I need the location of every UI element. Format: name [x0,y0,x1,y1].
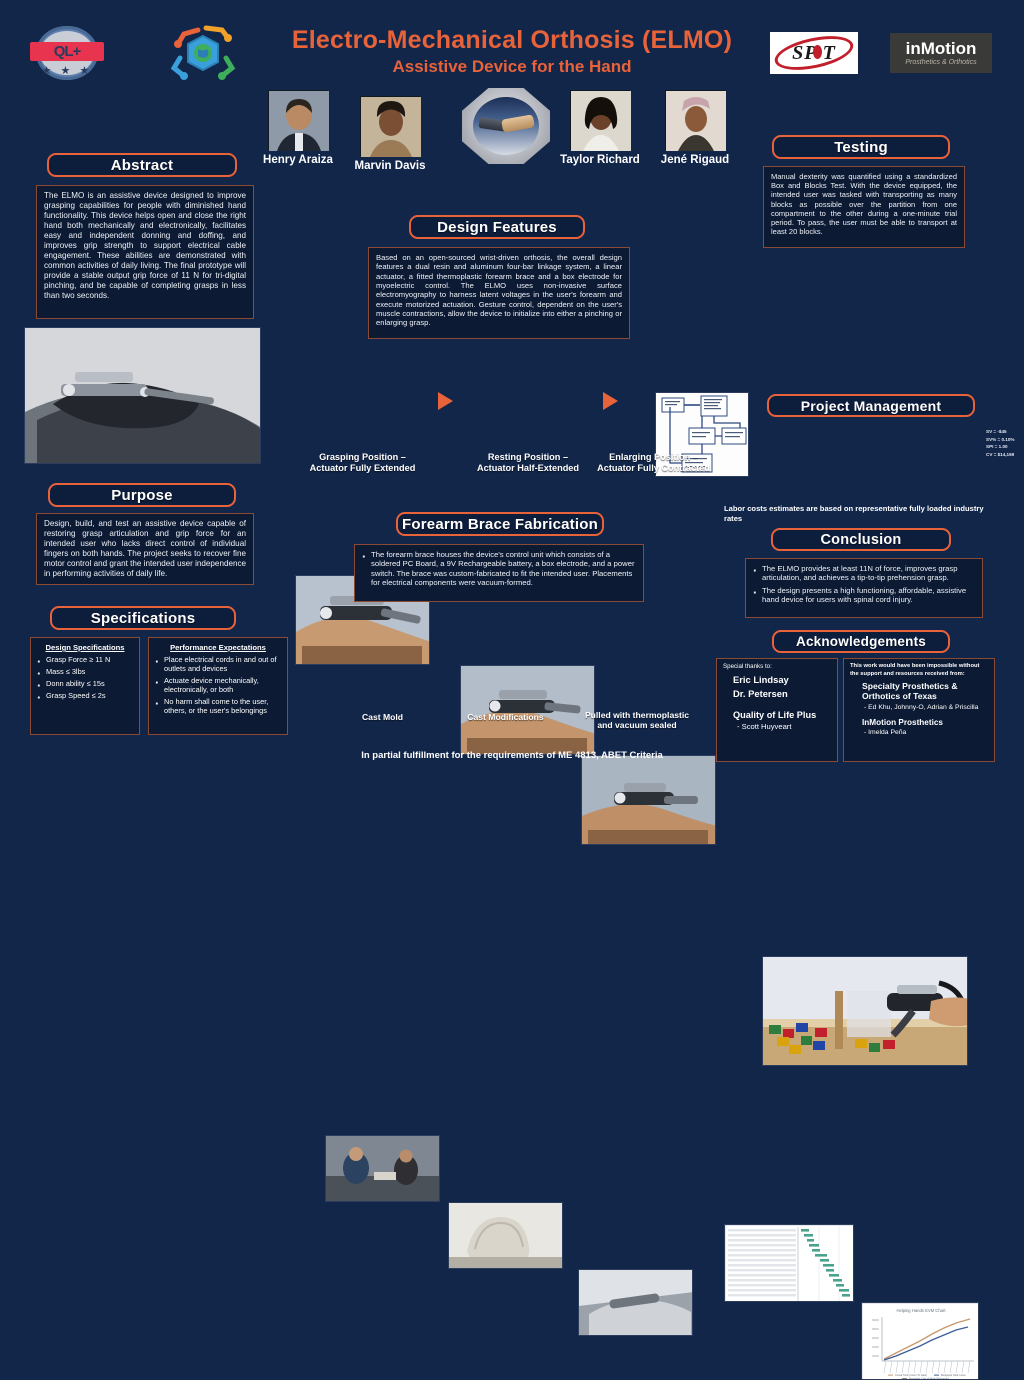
cast-modifications-photo [448,1202,563,1269]
gantt-chart-image [724,1224,854,1302]
svg-text:15000: 15000 [872,1346,879,1349]
forearm-brace-list: The forearm brace houses the device's co… [362,550,636,588]
svg-text:10000: 10000 [872,1355,879,1358]
performance-expectations-list: Place electrical cords in and out of out… [155,655,281,715]
design-specifications-panel: Design Specifications Grasp Force ≥ 11 N… [30,637,140,735]
abstract-title: Abstract [47,153,237,177]
purpose-title: Purpose [48,483,236,507]
design-features-body: Based on an open-sourced wrist-driven or… [368,247,630,339]
avatar-marvin-davis [360,96,420,156]
ack-org-inmotion: InMotion Prosthetics [850,718,988,727]
ack-org-specialty: Specialty Prosthetics & Orthotics of Tex… [850,681,988,702]
forearm-brace-title: Forearm Brace Fabrication [396,512,604,536]
design-specifications-heading: Design Specifications [37,643,133,652]
conclusion-title: Conclusion [771,528,951,551]
abstract-text: The ELMO is an assistive device designed… [44,191,246,300]
enlarging-position-caption: Enlarging Position – Actuator Fully Cont… [572,452,735,474]
cast-mold-caption: Cast Mold [330,712,435,722]
svg-text:25000: 25000 [872,1328,879,1331]
team-member-4: Jené Rigaud [665,90,736,166]
performance-expectations-heading: Performance Expectations [155,643,281,652]
list-item: The forearm brace houses the device's co… [362,550,636,588]
ack-org-inmotion-people: - Imelda Peña [850,729,988,736]
caption-line-2: Actuator Fully Extended [285,463,440,474]
evm-chart-image: Helping Hands EVM Chart 300002500020000 … [861,1302,979,1380]
caption-line-1: Grasping Position – [285,452,440,463]
team-member-3: Taylor Richard [570,90,644,166]
list-item: No harm shall come to the user, others, … [155,697,281,715]
inmotion-tagline: Prosthetics & Orthotics [905,59,976,66]
inmotion-wordmark: inMotion [906,40,977,57]
ack-left-intro: Special thanks to: [723,663,831,670]
inmotion-logo: inMotion Prosthetics & Orthotics [890,33,992,73]
avatar-jene-rigaud [665,90,725,150]
metric-cv: CV = $14,169 [986,451,1024,459]
design-specifications-list: Grasp Force ≥ 11 N Mass ≤ 3lbs Donn abil… [37,655,133,700]
svg-text:20000: 20000 [872,1337,879,1340]
cast-mold-photo [325,1135,440,1202]
acknowledgements-title: Acknowledgements [772,630,950,653]
project-management-title: Project Management [767,394,975,417]
thermoplastic-pull-caption: Pulled with thermoplastic and vacuum sea… [573,710,701,731]
spot-logo: SP T [770,32,858,74]
purpose-body: Design, build, and test an assistive dev… [36,513,254,585]
enlarging-position-photo [581,755,716,845]
poster-canvas: QL+ ★ ★ ★ Electro-Mechanical Orthosis (E… [0,0,1024,768]
svg-text:Budgeted Cost of Work Performe: Budgeted Cost of Work Performed [909,1376,949,1380]
avatar-taylor-richard [570,90,630,150]
svg-text:30000: 30000 [872,1319,879,1322]
team-member-1: Henry Araiza [268,90,338,166]
poster-title: Electro-Mechanical Orthosis (ELMO) [0,26,1024,55]
performance-expectations-panel: Performance Expectations Place electrica… [148,637,288,735]
arrow-right-icon-1 [438,392,453,410]
list-item: Grasp Force ≥ 11 N [37,655,133,664]
metric-sv: SV = -$45 [986,428,1024,436]
design-features-title: Design Features [409,215,585,239]
conclusion-list: The ELMO provides at least 11N of force,… [753,564,975,605]
list-item: Place electrical cords in and out of out… [155,655,281,673]
ack-org-specialty-people: - Ed Khu, Johnny-O, Adrian & Priscilla [850,704,988,712]
svg-text:Helping Hands EVM Chart: Helping Hands EVM Chart [896,1308,946,1313]
caption-line-1: Cast Mold [330,712,435,722]
team-member-name: Henry Araiza [258,154,338,166]
testing-title: Testing [772,135,950,159]
box-and-blocks-test-photo [762,956,968,1066]
abstract-body: The ELMO is an assistive device designed… [36,185,254,319]
caption-line-1: Enlarging Position – [572,452,735,463]
handshake-emblem [462,88,550,164]
list-item: Grasp Speed ≤ 2s [37,691,133,700]
specifications-title: Specifications [50,606,236,630]
emblem-inner-disc [473,97,539,155]
list-item: The design presents a high functioning, … [753,586,975,605]
design-features-text: Based on an open-sourced wrist-driven or… [376,253,622,328]
thermoplastic-pull-photo [578,1269,693,1336]
ack-org-qlplus-person: - Scott Huyveart [723,722,831,731]
project-management-note: Labor costs estimates are based on repre… [724,504,1000,524]
team-member-name: Jené Rigaud [654,154,736,166]
cast-modifications-caption: Cast Modifications [448,712,563,722]
ack-name-2: Dr. Petersen [723,688,831,699]
forearm-brace-body: The forearm brace houses the device's co… [354,544,644,602]
poster-subtitle: Assistive Device for the Hand [0,57,1024,77]
acknowledgements-left-panel: Special thanks to: Eric Lindsay Dr. Pete… [716,658,838,762]
metric-spi: SPI = 1.00 [986,443,1024,451]
svg-text:Budgeted Total Costs: Budgeted Total Costs [941,1373,966,1377]
ack-org-qlplus: Quality of Life Plus [723,710,831,720]
footer-note: In partial fulfillment for the requireme… [0,750,1024,761]
spot-dot-shape [813,45,822,59]
team-member-name: Marvin Davis [350,160,430,172]
arrow-right-icon-2 [603,392,618,410]
caption-line-2: and vacuum sealed [573,720,701,730]
ack-name-1: Eric Lindsay [723,674,831,685]
svg-text:Actual Total Costs (To Date): Actual Total Costs (To Date) [895,1373,927,1377]
testing-body: Manual dexterity was quantified using a … [763,166,965,248]
device-prototype-photo [24,327,261,464]
caption-line-2: Actuator Fully Contracted [572,463,735,474]
conclusion-body: The ELMO provides at least 11N of force,… [745,558,983,618]
metric-sv-percent: SV% = 0.10% [986,436,1024,444]
evm-metrics-list: SV = -$45 SV% = 0.10% SPI = 1.00 CV = $1… [986,428,1024,458]
ack-right-intro: This work would have been impossible wit… [850,663,988,678]
list-item: Actuate device mechanically, electronica… [155,676,281,694]
testing-text: Manual dexterity was quantified using a … [771,172,957,237]
grasping-position-caption: Grasping Position – Actuator Fully Exten… [285,452,440,474]
list-item: Mass ≤ 3lbs [37,667,133,676]
avatar-henry-araiza [268,90,328,150]
list-item: The ELMO provides at least 11N of force,… [753,564,975,583]
human-hand-shape [501,114,535,132]
list-item: Donn ability ≤ 15s [37,679,133,688]
acknowledgements-right-panel: This work would have been impossible wit… [843,658,995,762]
team-member-name: Taylor Richard [556,154,644,166]
purpose-text: Design, build, and test an assistive dev… [44,519,246,579]
caption-line-1: Pulled with thermoplastic [573,710,701,720]
caption-line-1: Cast Modifications [448,712,563,722]
team-member-2: Marvin Davis [360,96,430,172]
